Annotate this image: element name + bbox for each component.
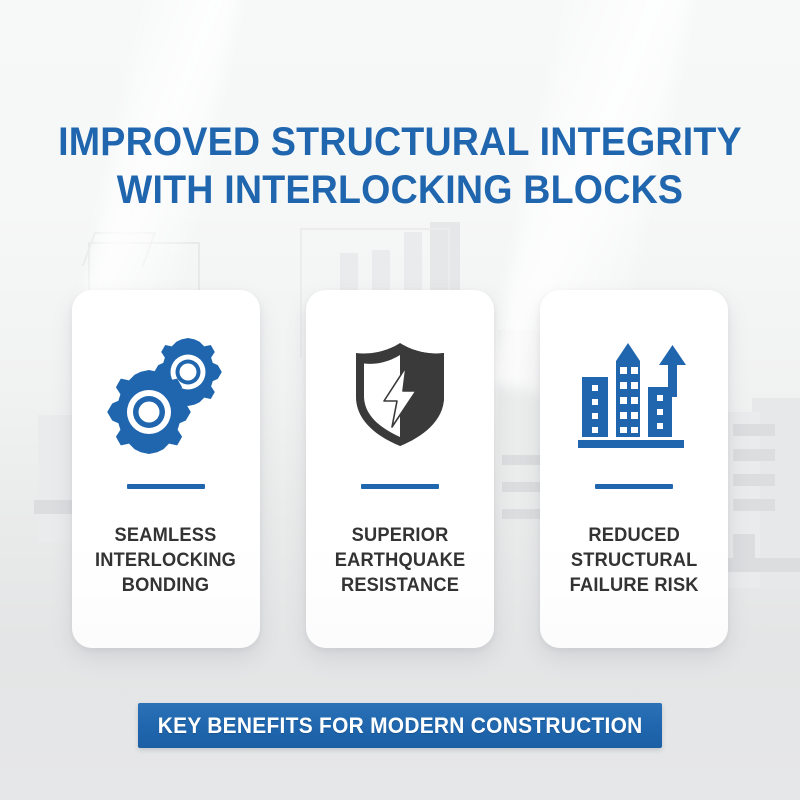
shield-lightning-icon-wrapper (306, 290, 494, 490)
benefit-card-seamless-interlocking-bonding[interactable]: SEAMLESS INTERLOCKING BONDING (72, 290, 260, 648)
benefit-card-reduced-structural-failure-risk[interactable]: REDUCED STRUCTURAL FAILURE RISK (540, 290, 728, 648)
page-title-line-2: WITH INTERLOCKING BLOCKS (24, 166, 776, 214)
card-divider (361, 484, 439, 489)
card-divider (127, 484, 205, 489)
benefit-card-label-line-1: SEAMLESS (95, 523, 236, 548)
benefit-card-superior-earthquake-resistance[interactable]: SUPERIOR EARTHQUAKE RESISTANCE (306, 290, 494, 648)
benefit-card-label: SUPERIOR EARTHQUAKE RESISTANCE (325, 523, 475, 598)
gears-icon (102, 336, 230, 454)
page-title: IMPROVED STRUCTURAL INTEGRITY WITH INTER… (24, 118, 776, 214)
infographic-canvas: IMPROVED STRUCTURAL INTEGRITY WITH INTER… (0, 0, 800, 800)
key-benefits-banner-text: KEY BENEFITS FOR MODERN CONSTRUCTION (158, 713, 643, 739)
bg-building-left-roof (82, 232, 156, 266)
benefit-card-label-line-3: RESISTANCE (335, 573, 466, 598)
shield-lightning-icon (348, 339, 452, 451)
benefit-card-label-line-3: BONDING (95, 573, 236, 598)
benefit-card-label-line-2: EARTHQUAKE (335, 548, 466, 573)
buildings-growth-icon (574, 339, 694, 451)
buildings-growth-icon-wrapper (540, 290, 728, 490)
card-divider (595, 484, 673, 489)
benefit-card-label-line-2: INTERLOCKING (95, 548, 236, 573)
benefit-card-label-line-1: SUPERIOR (335, 523, 466, 548)
benefit-card-label-line-3: FAILURE RISK (569, 573, 698, 598)
gears-icon-wrapper (72, 290, 260, 490)
page-title-line-1: IMPROVED STRUCTURAL INTEGRITY (24, 118, 776, 166)
key-benefits-banner: KEY BENEFITS FOR MODERN CONSTRUCTION (138, 703, 662, 748)
benefit-card-label: REDUCED STRUCTURAL FAILURE RISK (560, 523, 708, 598)
benefit-card-label-line-2: STRUCTURAL (569, 548, 698, 573)
benefit-card-list: SEAMLESS INTERLOCKING BONDING (0, 290, 800, 650)
ground-baseline (578, 440, 684, 448)
building-center (616, 343, 640, 437)
benefit-card-label-line-1: REDUCED (569, 523, 698, 548)
benefit-card-label: SEAMLESS INTERLOCKING BONDING (86, 523, 246, 598)
